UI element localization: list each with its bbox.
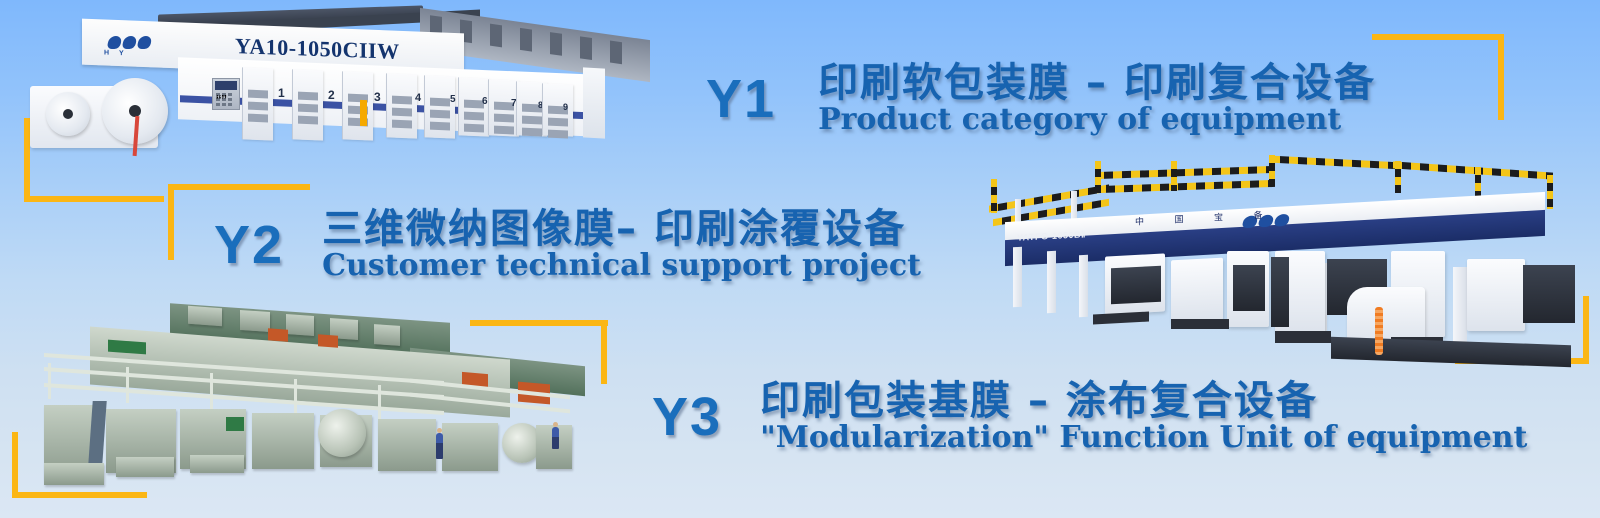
coater-blower (240, 310, 270, 332)
coater-base-plinth (44, 463, 104, 485)
print-unit (542, 83, 573, 136)
laminator-floor-frame (1331, 337, 1571, 367)
safety-rail (1097, 180, 1275, 193)
laminator-column (1453, 267, 1467, 353)
print-unit-number: 4 (415, 92, 421, 104)
laminator-base (1093, 312, 1149, 325)
coater-blower (188, 306, 222, 326)
laminator-roller-bay (1523, 265, 1575, 323)
coater-unit (378, 419, 436, 471)
row-text-y1: 印刷软包装膜 – 印刷复合设备 Product category of equi… (818, 62, 1376, 136)
row-english-y1: Product category of equipment (818, 104, 1376, 136)
safety-rail (1271, 156, 1401, 170)
laminator-column (1047, 251, 1056, 313)
bracket-bottom-left-vertical (12, 432, 18, 498)
coater-motor (268, 328, 288, 341)
row-chinese-y2: 三维微纳图像膜– 印刷涂覆设备 (322, 208, 921, 250)
machine-photo-laminator: YATFG-1650BⅡ 中 国 宝 备 (975, 155, 1575, 370)
bracket-bottom-left-horizontal (12, 492, 147, 498)
row-chinese-y3: 印刷包装基膜 – 涂布复合设备 (760, 380, 1527, 422)
coater-walkway-post (294, 379, 297, 415)
coater-green-panel (226, 417, 244, 431)
coater-walkway-post (378, 385, 381, 421)
hy-logo-text: HY (104, 49, 134, 57)
product-category-banner: HY YA10-1050CIIW 1 2 3 4 5 6 7 8 9 (0, 0, 1600, 518)
press-roll-hub (63, 109, 73, 119)
safety-rail-post (991, 179, 997, 213)
safety-rail (1095, 166, 1275, 179)
coater-drum (318, 409, 366, 457)
print-unit (386, 73, 417, 138)
print-unit (342, 71, 373, 140)
safety-rail-post (1395, 161, 1401, 193)
print-unit-number: 1 (278, 86, 285, 100)
print-unit (292, 69, 323, 140)
coater-walkway-post (210, 373, 213, 409)
row-code-y3: Y3 (652, 390, 722, 444)
coater-operator (436, 433, 443, 459)
row-english-y2: Customer technical support project (322, 250, 921, 282)
press-rewind-unit (583, 67, 605, 138)
bracket-top-right-horizontal (1372, 34, 1504, 40)
coater-base-plinth (190, 455, 244, 473)
machine-photo-coater (30, 305, 575, 490)
laminator-column (1079, 255, 1088, 317)
safety-rail-post (1547, 175, 1553, 209)
row-code-y2: Y2 (214, 218, 284, 272)
row-code-y1: Y1 (706, 72, 776, 126)
laminator-roller-bay (1111, 266, 1161, 305)
row-text-y2: 三维微纳图像膜– 印刷涂覆设备 Customer technical suppo… (322, 208, 921, 282)
laminator-base (1275, 331, 1331, 343)
print-unit-number: 9 (563, 102, 568, 112)
print-unit (242, 67, 273, 140)
bracket-top-right-vertical (1498, 34, 1504, 120)
row-y3: Y3 印刷包装基膜 – 涂布复合设备 "Modularization" Func… (652, 380, 1527, 454)
coater-walkway-post (126, 367, 129, 403)
laminator-roller-bay (1271, 257, 1289, 327)
row-y1: Y1 印刷软包装膜 – 印刷复合设备 Product category of e… (706, 62, 1376, 136)
print-unit-number: 5 (450, 94, 456, 105)
coater-blower (286, 314, 314, 336)
laminator-module (1171, 258, 1223, 323)
coater-operator (552, 427, 559, 449)
safety-rail-post (1171, 161, 1177, 191)
laminator-orange-hose (1375, 307, 1383, 355)
print-unit (424, 75, 455, 138)
row-chinese-y1: 印刷软包装膜 – 印刷复合设备 (818, 62, 1376, 104)
machine-photo-gravure-press: HY YA10-1050CIIW 1 2 3 4 5 6 7 8 9 (30, 8, 605, 180)
row-english-y3: "Modularization" Function Unit of equipm… (760, 422, 1527, 454)
coater-blower (374, 324, 400, 346)
laminator-column (1013, 247, 1022, 307)
safety-rail-post (1095, 161, 1101, 193)
press-yellow-marker (360, 100, 367, 126)
laminator-module (1467, 259, 1525, 331)
coater-walkway-post (48, 363, 51, 399)
bracket-bottom-right-vertical (1583, 296, 1589, 362)
print-unit-number: 6 (482, 96, 488, 107)
print-unit (458, 77, 489, 136)
coater-panel (108, 340, 146, 355)
bracket-middle-top-horizontal (168, 184, 310, 190)
bracket-middle-left-vertical (168, 184, 174, 260)
coater-motor (318, 334, 338, 347)
bracket-mid-right-vertical (601, 320, 607, 384)
row-y2: Y2 三维微纳图像膜– 印刷涂覆设备 Customer technical su… (214, 208, 921, 282)
coater-unit (442, 423, 498, 471)
safety-rail (1393, 161, 1553, 179)
coater-unit (252, 413, 314, 469)
row-text-y3: 印刷包装基膜 – 涂布复合设备 "Modularization" Functio… (760, 380, 1527, 454)
laminator-roller-bay (1233, 265, 1265, 311)
print-unit-number: 3 (374, 90, 381, 104)
print-unit-number: 2 (328, 88, 335, 102)
bracket-top-left-horizontal (24, 196, 164, 202)
laminator-base (1171, 319, 1229, 329)
coater-base-plinth (116, 457, 174, 477)
safety-rail-post (1269, 155, 1275, 185)
press-control-panel (212, 78, 240, 110)
